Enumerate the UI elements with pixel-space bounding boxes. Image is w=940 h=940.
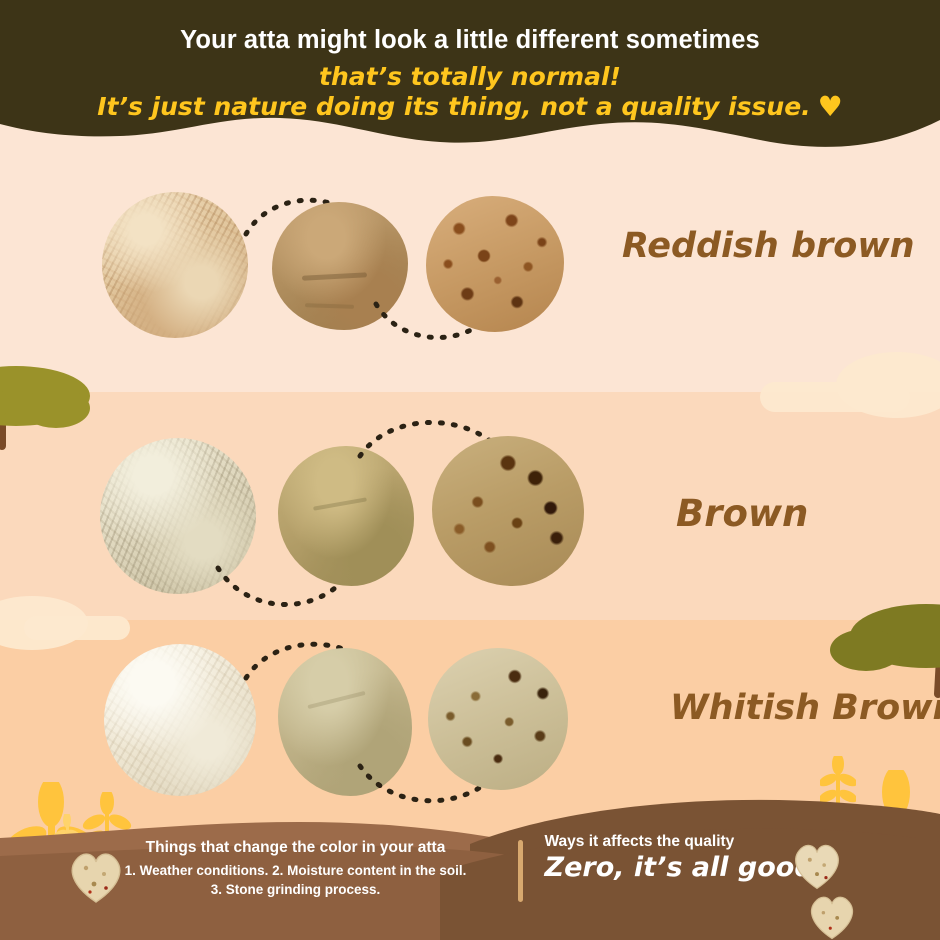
flour-pile-whitish-brown xyxy=(104,644,256,796)
footer-divider xyxy=(518,840,523,902)
flour-pile-reddish-brown xyxy=(102,192,248,338)
roti-heart-right-upper-icon xyxy=(790,840,844,892)
footer-left-heading: Things that change the color in your att… xyxy=(96,838,496,858)
dough-ball-brown xyxy=(278,446,414,586)
roti-whitish-brown xyxy=(428,648,568,790)
variant-label-reddish-brown: Reddish brown xyxy=(622,226,915,266)
header-subline-1: that’s totally normal! xyxy=(319,63,621,92)
variant-label-brown: Brown xyxy=(676,492,808,535)
roti-brown xyxy=(432,436,584,586)
variant-row-reddish-brown: Reddish brown xyxy=(0,180,940,360)
header-subline-2-wrap: It’s just nature doing its thing, not a … xyxy=(97,93,843,122)
dough-ball-whitish-brown xyxy=(278,648,412,796)
yellow-heart-icon: ♥ xyxy=(818,93,843,121)
dough-ball-reddish-brown xyxy=(272,202,408,330)
variant-row-brown: Brown xyxy=(0,420,940,610)
infographic-poster: Reddish brown Brown xyxy=(0,0,940,940)
footer-left-body-1: 1. Weather conditions. 2. Moisture conte… xyxy=(96,861,496,880)
variant-label-whitish-brown: Whitish Brown xyxy=(670,688,940,728)
header-banner: Your atta might look a little different … xyxy=(0,0,940,150)
footer-left-block: Things that change the color in your att… xyxy=(96,828,496,899)
roti-reddish-brown xyxy=(426,196,564,332)
header-headline: Your atta might look a little different … xyxy=(180,26,760,55)
roti-heart-left-icon xyxy=(66,848,126,906)
cloud-right-upper-2 xyxy=(760,382,910,412)
footer-left-body-2: 3. Stone grinding process. xyxy=(96,880,496,899)
roti-heart-right-lower-icon xyxy=(806,892,858,940)
header-subline-2: It’s just nature doing its thing, not a … xyxy=(97,93,810,122)
flour-pile-brown xyxy=(100,438,256,594)
